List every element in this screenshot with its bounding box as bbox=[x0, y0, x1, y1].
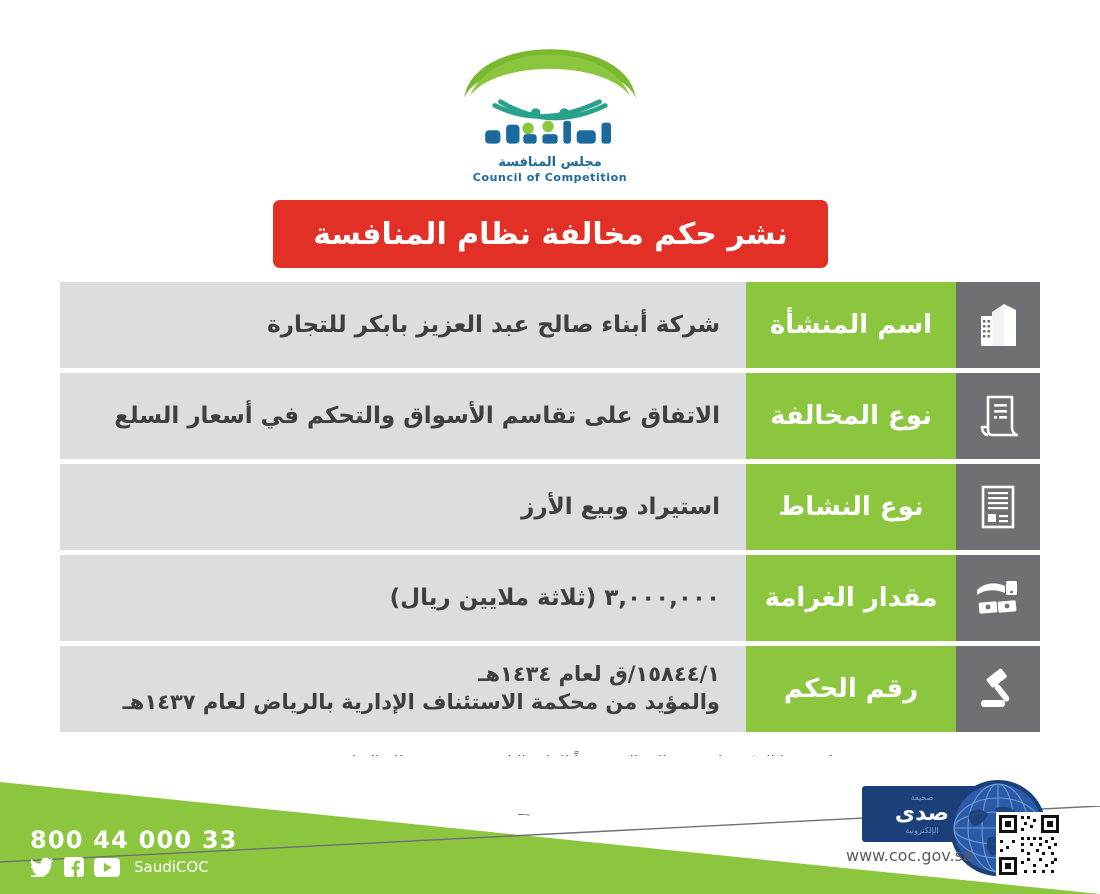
scroll-document-icon bbox=[978, 393, 1018, 439]
logo-graphic bbox=[430, 14, 670, 157]
table-row: الاتفاق على تقاسم الأسواق والتحكم في أسع… bbox=[60, 373, 1040, 459]
qr-code bbox=[996, 812, 1062, 878]
table-row: ١٥٨٤٤/١/ق لعام ١٤٣٤هـ والمؤيد من محكمة ا… bbox=[60, 646, 1040, 732]
page-title: نشر حكم مخالفة نظام المنافسة bbox=[313, 217, 788, 252]
contact-phone: 800 44 000 33 bbox=[30, 826, 238, 854]
table-row: ٣,٠٠٠,٠٠٠ (ثلاثة ملايين ريال) مقدار الغر… bbox=[60, 555, 1040, 641]
note-line-1: نُشر هذا الحكم على نفقة المخالف تنفيذاً … bbox=[312, 750, 832, 798]
publication-note: نُشر هذا الحكم على نفقة المخالف تنفيذاً … bbox=[312, 750, 832, 822]
contact-block: 800 44 000 33 SaudiCOC bbox=[30, 826, 238, 877]
label-text: مقدار الغرامة bbox=[764, 583, 937, 613]
table-cell-icon bbox=[956, 373, 1040, 459]
table-row: استيراد وبيع الأرز نوع النشاط bbox=[60, 464, 1040, 550]
document-lines-icon bbox=[979, 484, 1017, 530]
details-table: شركة أبناء صالح عبد العزيز بابكر للتجارة… bbox=[60, 282, 1040, 737]
table-cell-label: رقم الحكم bbox=[746, 646, 956, 732]
table-cell-value: ٣,٠٠٠,٠٠٠ (ثلاثة ملايين ريال) bbox=[60, 555, 746, 641]
table-cell-icon bbox=[956, 282, 1040, 368]
label-text: رقم الحكم bbox=[784, 674, 918, 704]
money-cash-icon bbox=[975, 576, 1021, 620]
table-cell-icon bbox=[956, 555, 1040, 641]
label-text: نوع المخالفة bbox=[770, 401, 932, 431]
note-line-2: بالمرسوم الملكي رقم (م/٢٥) بتاريخ ١٤٢٥/٥… bbox=[312, 798, 832, 822]
value-text: ٣,٠٠٠,٠٠٠ (ثلاثة ملايين ريال) bbox=[390, 583, 720, 613]
table-cell-label: نوع المخالفة bbox=[746, 373, 956, 459]
infographic-page: مجلس المنافسة Council of Competition نشر… bbox=[0, 0, 1100, 894]
logo-council-en: Council of Competition bbox=[473, 171, 627, 184]
table-cell-value: ١٥٨٤٤/١/ق لعام ١٤٣٤هـ والمؤيد من محكمة ا… bbox=[60, 646, 746, 732]
value-text: استيراد وبيع الأرز bbox=[521, 492, 720, 522]
label-text: اسم المنشأة bbox=[770, 310, 932, 340]
building-icon bbox=[978, 302, 1018, 348]
sada-name: صدى bbox=[895, 803, 949, 825]
social-links: SaudiCOC bbox=[30, 857, 238, 877]
table-cell-value: الاتفاق على تقاسم الأسواق والتحكم في أسع… bbox=[60, 373, 746, 459]
coc-logo: مجلس المنافسة Council of Competition bbox=[0, 14, 1100, 184]
sada-bottom-text: الإلكترونية bbox=[905, 826, 939, 835]
page-title-banner: نشر حكم مخالفة نظام المنافسة bbox=[273, 200, 828, 268]
table-cell-value: استيراد وبيع الأرز bbox=[60, 464, 746, 550]
table-cell-value: شركة أبناء صالح عبد العزيز بابكر للتجارة bbox=[60, 282, 746, 368]
table-cell-icon bbox=[956, 646, 1040, 732]
table-cell-label: اسم المنشأة bbox=[746, 282, 956, 368]
value-text: الاتفاق على تقاسم الأسواق والتحكم في أسع… bbox=[114, 401, 720, 431]
twitter-icon[interactable] bbox=[30, 857, 54, 877]
facebook-icon[interactable] bbox=[64, 857, 84, 877]
youtube-icon[interactable] bbox=[94, 858, 120, 877]
table-cell-icon bbox=[956, 464, 1040, 550]
gavel-icon bbox=[975, 667, 1021, 711]
table-row: شركة أبناء صالح عبد العزيز بابكر للتجارة… bbox=[60, 282, 1040, 368]
value-text-line2: والمؤيد من محكمة الاستئناف الإدارية بالر… bbox=[123, 690, 720, 714]
table-cell-label: مقدار الغرامة bbox=[746, 555, 956, 641]
social-handle: SaudiCOC bbox=[134, 858, 209, 876]
label-text: نوع النشاط bbox=[778, 492, 923, 522]
logo-council-ar: مجلس المنافسة bbox=[498, 155, 602, 170]
megaphone-icon bbox=[806, 752, 866, 804]
value-text: شركة أبناء صالح عبد العزيز بابكر للتجارة bbox=[267, 310, 720, 340]
table-cell-label: نوع النشاط bbox=[746, 464, 956, 550]
website-url[interactable]: www.coc.gov.sa bbox=[846, 846, 973, 865]
value-text-line1: ١٥٨٤٤/١/ق لعام ١٤٣٤هـ bbox=[478, 662, 720, 686]
